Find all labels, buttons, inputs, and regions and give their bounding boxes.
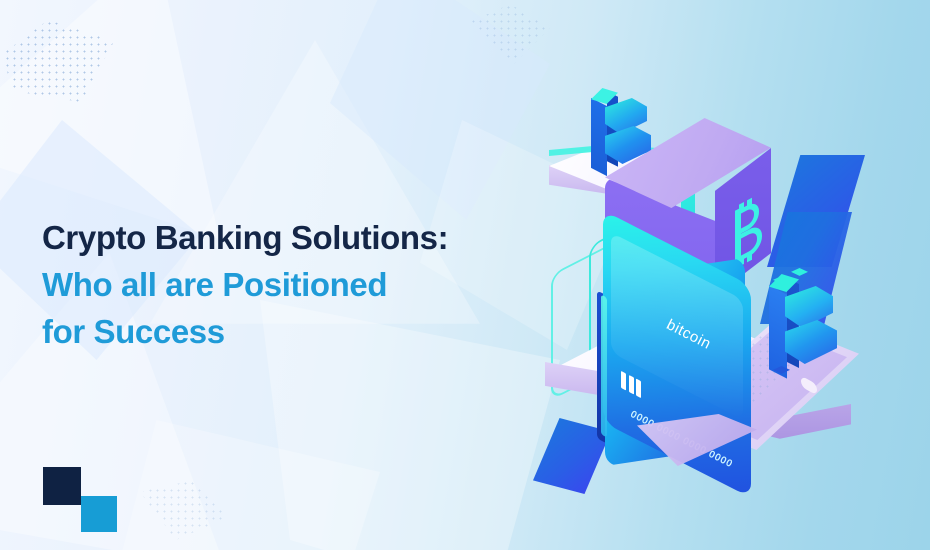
logo-mark <box>43 467 121 531</box>
bitcoin-stem-front <box>591 98 607 176</box>
logo-square-blue <box>81 496 117 532</box>
illustration: bitcoin 0000 0000 0000 0000 <box>505 62 930 532</box>
banner-root: Crypto Banking Solutions: Who all are Po… <box>0 0 930 550</box>
bg-dot-pattern-bottomleft <box>140 480 230 540</box>
headline-line-3: for Success <box>42 308 562 355</box>
headline-line-2: Who all are Positioned <box>42 261 562 308</box>
headline-line-1: Crypto Banking Solutions: <box>42 214 562 261</box>
page-title: Crypto Banking Solutions: Who all are Po… <box>42 214 562 355</box>
bg-polygon-8 <box>120 420 380 550</box>
bg-dot-pattern-right <box>470 4 550 64</box>
logo-square-dark <box>43 467 81 505</box>
card-edge-highlight <box>601 294 607 437</box>
bitcoin-phone-stem-front <box>769 285 787 378</box>
bg-dot-pattern-topleft <box>4 20 114 102</box>
bitcoin-symbol-phone <box>753 266 841 390</box>
